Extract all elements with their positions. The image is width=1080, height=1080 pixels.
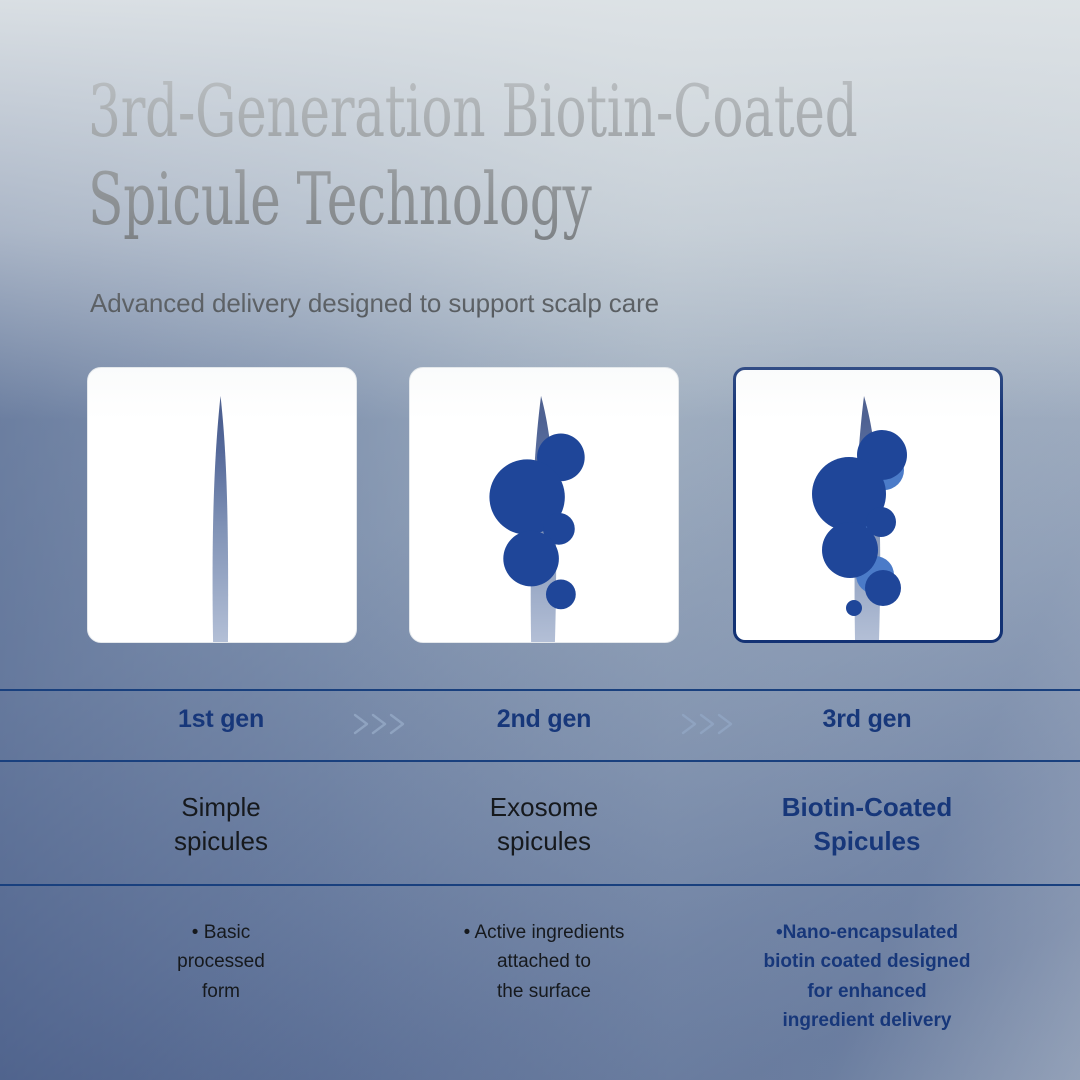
spicule-illustration-3 bbox=[736, 370, 1000, 640]
spicule-name-3rd-line2: Spicules bbox=[737, 824, 997, 858]
spicule-desc-1st-line1: • Basic bbox=[91, 918, 351, 947]
spicule-desc-1st-line2: processed bbox=[91, 947, 351, 976]
chevron-right-icon-2 bbox=[673, 706, 743, 738]
spicule-name-1st-line2: spicules bbox=[91, 824, 351, 858]
generation-label-3rd: 3rd gen bbox=[747, 705, 987, 734]
generation-label-2nd: 2nd gen bbox=[424, 705, 664, 734]
spicule-desc-2nd-line3: the surface bbox=[414, 977, 674, 1006]
spicule-card-row bbox=[0, 367, 1080, 643]
spicule-name-2nd: Exosome spicules bbox=[414, 790, 674, 859]
divider-top bbox=[0, 689, 1080, 691]
page-title-line-1: 3rd-Generation Biotin-Coated bbox=[88, 68, 765, 156]
spicule-name-1st-line1: Simple bbox=[91, 790, 351, 824]
spicule-desc-3rd: •Nano-encapsulated biotin coated designe… bbox=[737, 918, 997, 1036]
chevron-right-icon-1 bbox=[345, 706, 415, 738]
page-title: 3rd-Generation Biotin-Coated Spicule Tec… bbox=[88, 68, 765, 244]
poster-root: 3rd-Generation Biotin-Coated Spicule Tec… bbox=[0, 0, 1080, 1080]
spicule-illustration-1 bbox=[88, 368, 356, 642]
spicule-desc-1st-line3: form bbox=[91, 977, 351, 1006]
spicule-card-2nd-gen[interactable] bbox=[409, 367, 679, 643]
divider-middle bbox=[0, 760, 1080, 762]
spicule-desc-2nd-line1: • Active ingredients bbox=[414, 918, 674, 947]
spicule-card-3rd-gen[interactable] bbox=[733, 367, 1003, 643]
spicule-illustration-2 bbox=[410, 368, 678, 642]
spicule-name-1st: Simple spicules bbox=[91, 790, 351, 859]
generation-label-1st: 1st gen bbox=[101, 705, 341, 734]
spicule-name-3rd: Biotin-Coated Spicules bbox=[737, 790, 997, 859]
page-title-line-2: Spicule Technology bbox=[88, 156, 765, 244]
divider-bottom bbox=[0, 884, 1080, 886]
spicule-desc-3rd-line2: biotin coated designed bbox=[737, 947, 997, 976]
spicule-desc-2nd-line2: attached to bbox=[414, 947, 674, 976]
spicule-desc-3rd-line1: •Nano-encapsulated bbox=[737, 918, 997, 947]
spicule-name-3rd-line1: Biotin-Coated bbox=[737, 790, 997, 824]
spicule-desc-1st: • Basic processed form bbox=[91, 918, 351, 1006]
spicule-needle bbox=[213, 396, 229, 642]
page-subtitle: Advanced delivery designed to support sc… bbox=[90, 288, 659, 319]
spicule-desc-3rd-line3: for enhanced bbox=[737, 977, 997, 1006]
spicule-name-2nd-line2: spicules bbox=[414, 824, 674, 858]
spicule-desc-3rd-line4: ingredient delivery bbox=[737, 1006, 997, 1035]
spicule-card-1st-gen[interactable] bbox=[87, 367, 357, 643]
spicule-desc-2nd: • Active ingredients attached to the sur… bbox=[414, 918, 674, 1006]
spicule-name-2nd-line1: Exosome bbox=[414, 790, 674, 824]
